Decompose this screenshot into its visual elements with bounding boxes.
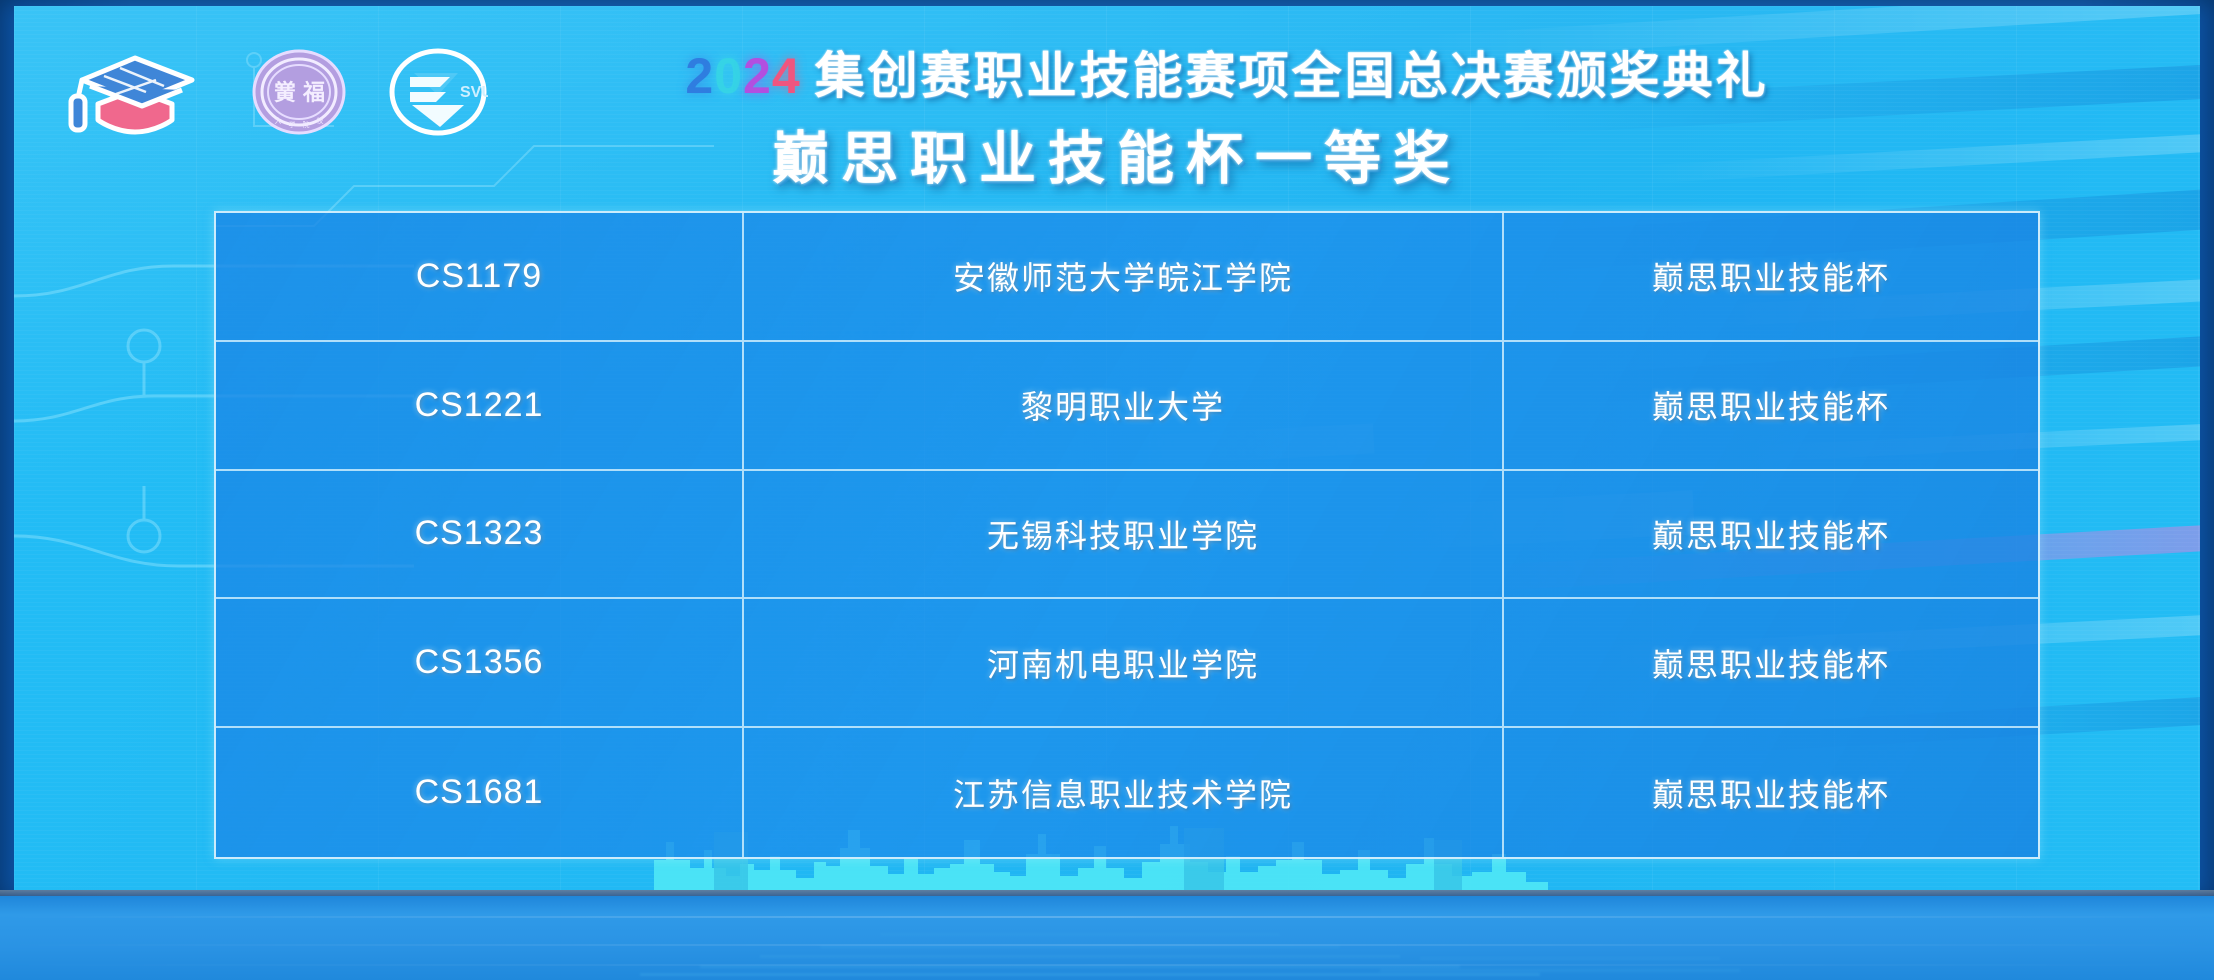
cell-award: 巅思职业技能杯 [1504, 342, 2038, 469]
year-digit-4: 4 [772, 48, 801, 104]
cell-school: 安徽师范大学皖江学院 [744, 213, 1504, 340]
cell-school: 无锡科技职业学院 [744, 471, 1504, 598]
table-row: CS1681 江苏信息职业技术学院 巅思职业技能杯 [216, 728, 2038, 857]
cell-school: 黎明职业大学 [744, 342, 1504, 469]
award-subtitle: 巅思职业技能杯一等奖 [14, 113, 2200, 195]
cell-code: CS1221 [216, 342, 744, 469]
table-row: CS1221 黎明职业大学 巅思职业技能杯 [216, 342, 2038, 471]
cell-school: 江苏信息职业技术学院 [744, 728, 1504, 857]
year-digit-3: 2 [743, 48, 772, 104]
stage-scene: 黉 福 大学院校 SVU [0, 0, 2214, 980]
cell-award: 巅思职业技能杯 [1504, 599, 2038, 726]
cell-school: 河南机电职业学院 [744, 599, 1504, 726]
cell-code: CS1356 [216, 599, 744, 726]
led-screen: 黉 福 大学院校 SVU [14, 6, 2200, 890]
table-row: CS1356 河南机电职业学院 巅思职业技能杯 [216, 599, 2038, 728]
stage-floor [0, 896, 2214, 980]
year-digit-2: 0 [714, 48, 743, 104]
title-block: 2024集创赛职业技能赛项全国总决赛颁奖典礼 巅思职业技能杯一等奖 [14, 50, 2200, 195]
cell-award: 巅思职业技能杯 [1504, 213, 2038, 340]
table-row: CS1323 无锡科技职业学院 巅思职业技能杯 [216, 471, 2038, 600]
award-table: CS1179 安徽师范大学皖江学院 巅思职业技能杯 CS1221 黎明职业大学 … [214, 211, 2040, 859]
main-title-text: 集创赛职业技能赛项全国总决赛颁奖典礼 [815, 48, 1769, 104]
cell-code: CS1681 [216, 728, 744, 857]
page-title: 2024集创赛职业技能赛项全国总决赛颁奖典礼 [445, 50, 1768, 103]
floor-reflection [0, 896, 2214, 980]
cell-code: CS1323 [216, 471, 744, 598]
cell-award: 巅思职业技能杯 [1504, 728, 2038, 857]
table-row: CS1179 安徽师范大学皖江学院 巅思职业技能杯 [216, 213, 2038, 342]
cell-code: CS1179 [216, 213, 744, 340]
year-digit-1: 2 [685, 48, 714, 104]
cell-award: 巅思职业技能杯 [1504, 471, 2038, 598]
